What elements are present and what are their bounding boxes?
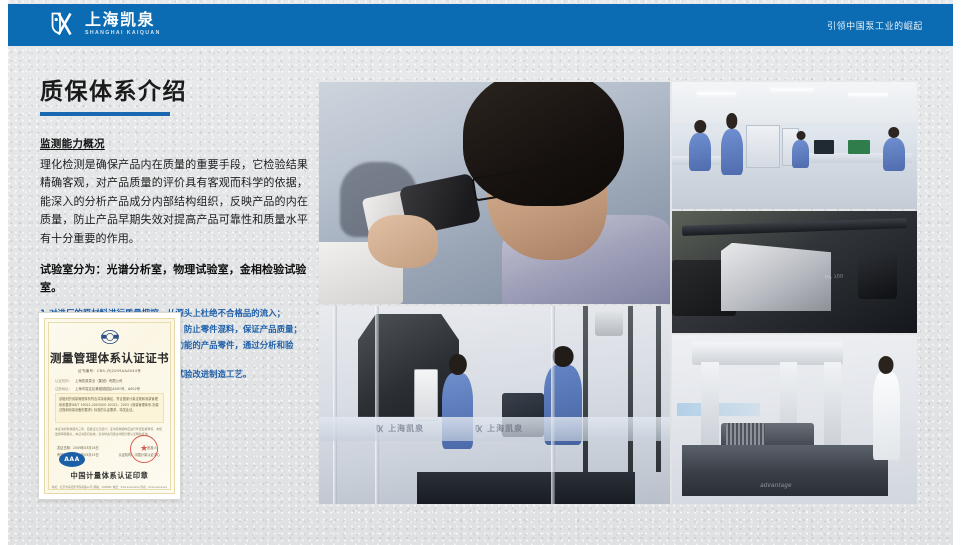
lab-worker [883, 138, 905, 171]
certificate-fields: 认证机构： 上海凯泉泵业（集团）有限公司 注册地址： 上海市嘉定区黄渡镇园区A0… [55, 378, 164, 394]
ceiling-light [770, 88, 814, 91]
photo-physical-test-lab[interactable]: 上海凯泉 上海凯泉 [319, 306, 670, 504]
issue-date: 发证日期：2009年03月16日 [57, 445, 99, 452]
logo-chinese-name: 上海凯泉 [85, 12, 161, 28]
machine-column [628, 306, 633, 472]
field-label: 认证机构： [55, 378, 72, 383]
certificate-footer: 中国计量体系认证印章 [45, 471, 174, 481]
cmm-column [824, 362, 841, 450]
glass-partition-band: 上海凯泉 上海凯泉 [319, 417, 670, 441]
photo-laboratory-room[interactable] [672, 82, 917, 209]
certificate-footer-contact: 地址：北京市海淀区学院南路xx号 邮编：100081 电话：010-xxxxxx… [45, 485, 174, 489]
certificate-field-row: 认证机构： 上海凯泉泵业（集团）有限公司 [55, 378, 164, 383]
machine-column [656, 306, 661, 472]
header-tagline: 引领中国泵工业的崛起 [827, 19, 923, 32]
certificate-image[interactable]: 测量管理体系认证证书 证书编号：CNS-JYJ2009AAA044号 认证机构：… [38, 312, 181, 500]
body-paragraph: 理化检测是确保产品内在质量的重要手段，它检验结果精确客观，对产品质量的评价具有客… [40, 156, 308, 248]
header-bar: 上海凯泉 SHANGHAI KAIQUAN 引领中国泵工业的崛起 [8, 4, 953, 46]
aaa-rating-badge: AAA [59, 452, 85, 467]
granite-table [417, 472, 635, 504]
kaiquan-logo-icon [375, 424, 385, 434]
photo-scene [672, 82, 917, 209]
photo-scene: 上海凯泉 上海凯泉 [319, 306, 670, 504]
lab-worker [792, 140, 809, 168]
glass-mullion [333, 306, 337, 504]
photo-measuring-equipment[interactable]: HL 100 [672, 211, 917, 333]
glass-logo: 上海凯泉 [375, 423, 424, 434]
certificate-frame: 测量管理体系认证证书 证书编号：CNS-JYJ2009AAA044号 认证机构：… [44, 318, 175, 494]
lens-module [858, 252, 897, 298]
glass-logo-text: 上海凯泉 [388, 423, 424, 434]
ceiling-light [697, 92, 736, 95]
equipment-label: HL 100 [825, 274, 844, 281]
storage-cabinet [746, 125, 780, 168]
photo-scene: advantage [672, 335, 917, 504]
certificate-body-text: 该组织的测量管理体系符合并持续满足，符合国家计量法规和测量管理体系要求GB/T … [55, 393, 164, 423]
section-heading: 监测能力概况 [40, 136, 308, 151]
certificate-title: 测量管理体系认证证书 [45, 350, 174, 366]
field-value: 上海凯泉泵业（集团）有限公司 [75, 378, 122, 383]
cmm-brand-label: advantage [760, 483, 792, 489]
certificate-field-row: 注册地址： 上海市嘉定区黄渡镇园区A001号、A002号 [55, 386, 164, 391]
photo-scene [319, 82, 670, 304]
certificate-code: 证书编号：CNS-JYJ2009AAA044号 [45, 369, 174, 374]
kaiquan-logo-icon [474, 424, 484, 434]
overhead-rail [682, 218, 908, 236]
field-value: 上海市嘉定区黄渡镇园区A001号、A002号 [75, 386, 140, 391]
photo-grid: HL 100 [319, 82, 917, 504]
red-official-seal-icon [130, 435, 158, 463]
operator-hand [368, 215, 438, 268]
photo-scene: HL 100 [672, 211, 917, 333]
logo-english-name: SHANGHAI KAIQUAN [85, 31, 161, 36]
glass-logo-text: 上海凯泉 [487, 423, 523, 434]
white-coat-operator [873, 372, 900, 460]
brand-logo[interactable]: 上海凯泉 SHANGHAI KAIQUAN [48, 9, 161, 39]
lab-worker [689, 133, 711, 171]
glass-logo: 上海凯泉 [474, 423, 523, 434]
certification-emblem-icon [99, 328, 121, 346]
laboratory-list-line: 试验室分为：光谱分析室，物理试验室，金相检验试验室。 [40, 261, 308, 296]
slide-page: 上海凯泉 SHANGHAI KAIQUAN 引领中国泵工业的崛起 质保体系介绍 … [0, 0, 961, 545]
glass-mullion [551, 306, 555, 504]
lab-worker [721, 129, 743, 175]
title-underline-rule [40, 112, 170, 116]
computer-monitor [848, 140, 870, 154]
kaiquan-logo-icon [48, 9, 78, 39]
load-cell [595, 311, 622, 336]
glass-mullion [375, 306, 379, 504]
photo-microscope-inspection[interactable] [319, 82, 670, 304]
wall-banner [677, 403, 760, 417]
field-label: 注册地址： [55, 386, 72, 391]
page-title: 质保体系介绍 [40, 78, 308, 107]
control-panel [414, 369, 439, 420]
ceiling-light [848, 93, 887, 96]
photo-coordinate-measuring-machine[interactable]: advantage [672, 335, 917, 504]
universal-testing-machine [572, 306, 663, 472]
cmm-column [701, 362, 718, 450]
instrument-body [721, 243, 831, 311]
computer-monitor [814, 140, 834, 154]
machine-column [583, 306, 588, 472]
